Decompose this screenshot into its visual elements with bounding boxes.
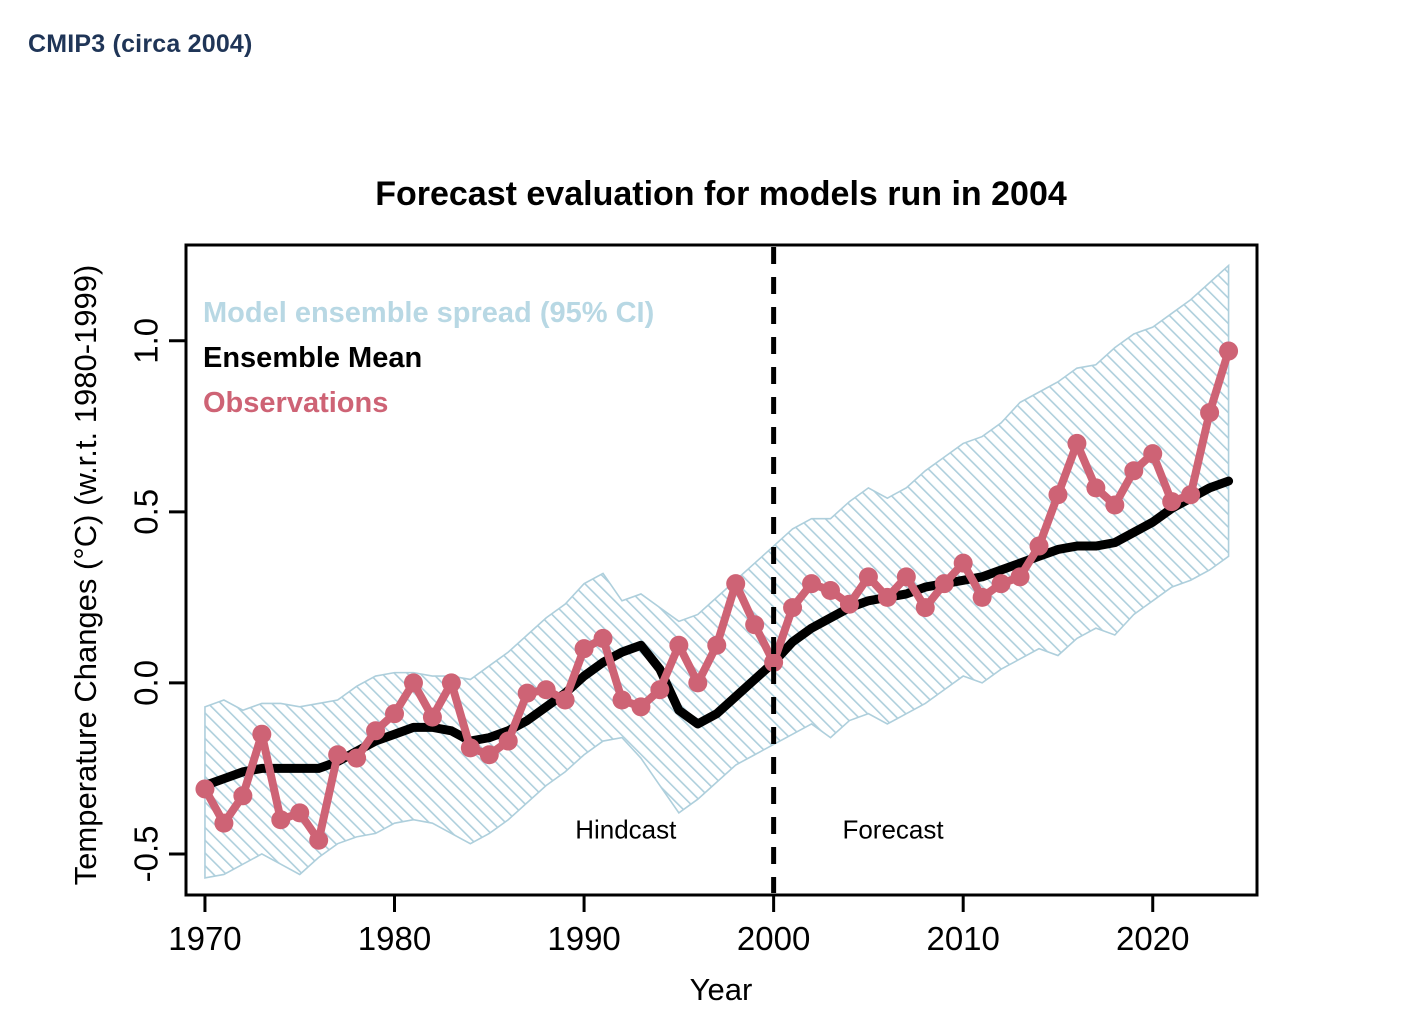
observation-point [1030, 537, 1049, 556]
observation-point [556, 691, 575, 710]
observation-point [1048, 485, 1067, 504]
observation-point [916, 598, 935, 617]
observation-point [442, 673, 461, 692]
x-axis-ticks: 197019801990200020102020 [168, 895, 1189, 957]
observation-point [745, 615, 764, 634]
chart-title: Forecast evaluation for models run in 20… [375, 175, 1067, 213]
observation-point [897, 567, 916, 586]
legend-item-1: Model ensemble spread (95% CI) [203, 297, 654, 329]
observation-point [290, 803, 309, 822]
observation-point [1086, 478, 1105, 497]
observation-point [783, 598, 802, 617]
observation-point [821, 581, 840, 600]
x-tick-label: 1970 [168, 920, 241, 957]
observation-point [1105, 496, 1124, 515]
observation-point [840, 595, 859, 614]
observation-point [1181, 485, 1200, 504]
x-tick-label: 1980 [358, 920, 431, 957]
observation-point [233, 786, 252, 805]
observation-point [1200, 403, 1219, 422]
observation-point [461, 738, 480, 757]
observation-point [650, 680, 669, 699]
observation-point [1067, 434, 1086, 453]
observation-point [802, 574, 821, 593]
legend-item-2: Ensemble Mean [203, 342, 422, 374]
annotation-label: Hindcast [575, 815, 677, 845]
annotation-label: Forecast [842, 815, 944, 845]
observation-point [195, 779, 214, 798]
chart-legend: Model ensemble spread (95% CI)Ensemble M… [203, 297, 654, 419]
observation-point [366, 721, 385, 740]
y-tick-label: 0.0 [128, 660, 165, 706]
observation-point [935, 574, 954, 593]
chart-svg: Forecast evaluation for models run in 20… [0, 0, 1418, 1028]
observation-point [423, 708, 442, 727]
observation-point [954, 554, 973, 573]
y-tick-label: 1.0 [128, 318, 165, 364]
y-axis-ticks: -0.50.00.51.0 [128, 318, 187, 883]
observation-point [271, 810, 290, 829]
observation-point [1162, 492, 1181, 511]
chart-annotations: HindcastForecast [575, 815, 944, 845]
observation-point [878, 588, 897, 607]
observation-point [973, 588, 992, 607]
y-axis-title: Temperature Changes (°C) (w.r.t. 1980-19… [68, 265, 103, 886]
x-axis-title: Year [690, 972, 753, 1007]
legend-item-3: Observations [203, 387, 388, 419]
observation-point [252, 725, 271, 744]
observation-point [214, 814, 233, 833]
observation-point [992, 574, 1011, 593]
observation-point [612, 691, 631, 710]
y-tick-label: -0.5 [128, 826, 165, 883]
observation-point [726, 574, 745, 593]
observation-point [631, 697, 650, 716]
observation-point [1011, 567, 1030, 586]
observation-point [537, 680, 556, 699]
observation-point [480, 745, 499, 764]
x-tick-label: 2020 [1116, 920, 1189, 957]
chart-figure: Forecast evaluation for models run in 20… [0, 0, 1418, 1028]
observation-point [1219, 342, 1238, 361]
observation-point [499, 732, 518, 751]
x-tick-label: 1990 [547, 920, 620, 957]
observation-point [1143, 444, 1162, 463]
x-tick-label: 2010 [926, 920, 999, 957]
observation-point [594, 629, 613, 648]
observation-point [688, 673, 707, 692]
observation-point [1124, 461, 1143, 480]
y-tick-label: 0.5 [128, 489, 165, 535]
x-tick-label: 2000 [737, 920, 810, 957]
observation-point [309, 831, 328, 850]
observation-point [707, 636, 726, 655]
observation-point [385, 704, 404, 723]
observation-point [404, 673, 423, 692]
observation-point [859, 567, 878, 586]
observation-point [518, 684, 537, 703]
observation-point [669, 636, 688, 655]
observation-point [328, 745, 347, 764]
observation-point [575, 639, 594, 658]
observation-point [347, 749, 366, 768]
